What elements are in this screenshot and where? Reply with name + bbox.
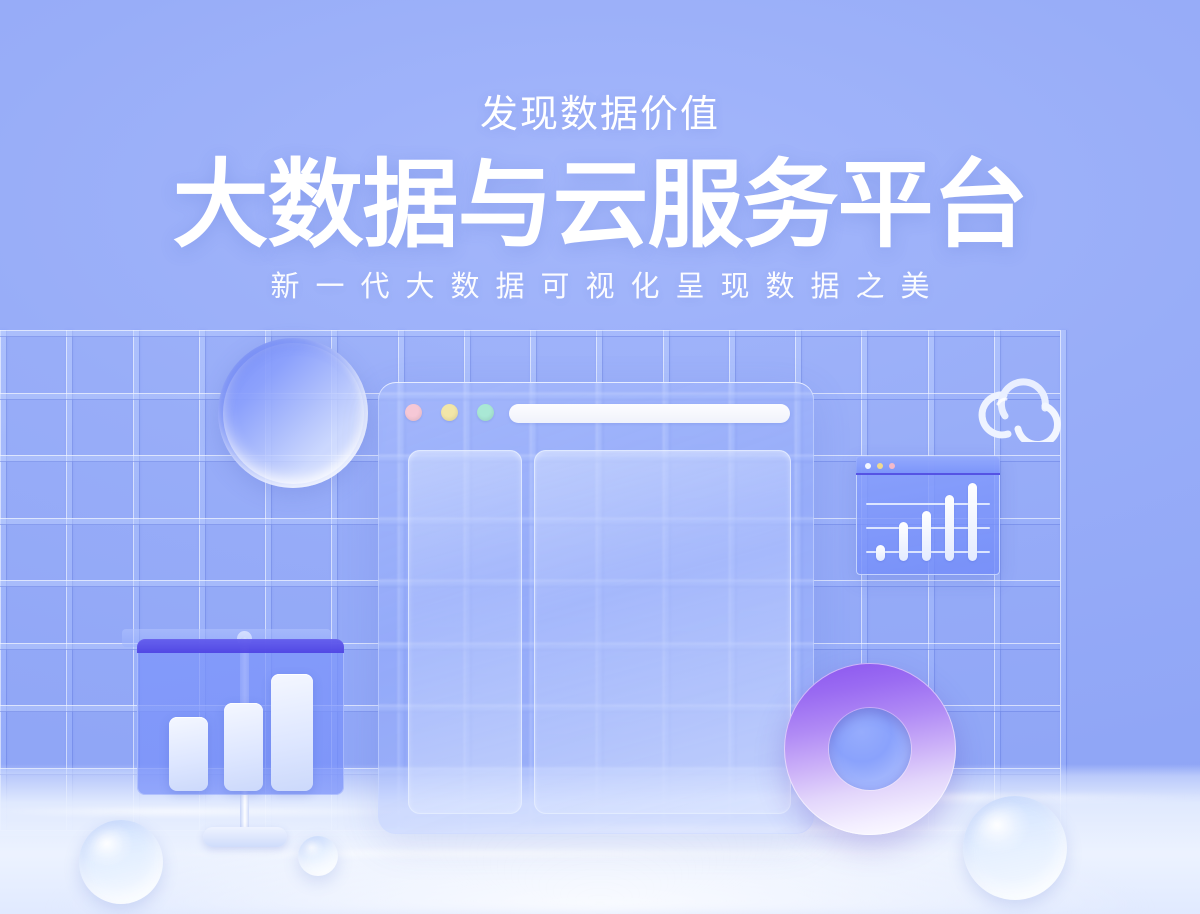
bar-b <box>224 703 263 791</box>
chart-bar-5 <box>968 483 977 561</box>
chart-bar-2 <box>899 522 908 561</box>
chart-bar-1 <box>876 545 885 561</box>
floor-streak <box>120 850 1020 857</box>
bar-a <box>169 717 208 791</box>
page-title: 大数据与云服务平台 <box>0 156 1200 257</box>
maximize-dot[interactable] <box>477 404 494 421</box>
bar-c <box>271 674 313 791</box>
subtitle-text: 新一代大数据可视化呈现数据之美 <box>0 273 1200 302</box>
gradient-torus <box>784 663 956 835</box>
glass-browser-mockup[interactable] <box>378 382 814 834</box>
content-panel[interactable] <box>534 450 791 814</box>
window-dot-yellow[interactable] <box>877 463 883 469</box>
glass-disc <box>218 338 368 488</box>
glass-sphere-mid <box>298 836 338 876</box>
torus-hole <box>829 708 911 790</box>
close-dot[interactable] <box>405 404 422 421</box>
chart-plot-area <box>856 475 1000 575</box>
lattice-horizontal-bar <box>0 330 1060 337</box>
glass-sphere-left <box>79 820 163 904</box>
hero-copy: 发现数据价值 大数据与云服务平台 新一代大数据可视化呈现数据之美 <box>0 0 1200 302</box>
window-dot-white[interactable] <box>865 463 871 469</box>
cloud-icon <box>975 360 1067 442</box>
hero-banner-stage: 发现数据价值 大数据与云服务平台 新一代大数据可视化呈现数据之美 <box>0 0 1200 914</box>
glass-sphere-right <box>963 796 1067 900</box>
chart-bar-4 <box>945 495 954 561</box>
address-bar[interactable] <box>509 404 790 423</box>
stand-base <box>203 827 287 847</box>
minimize-dot[interactable] <box>441 404 458 421</box>
eyebrow-text: 发现数据价值 <box>0 96 1200 134</box>
panel-header-bar <box>137 639 344 653</box>
chart-window-titlebar <box>856 456 1000 475</box>
sidebar-panel[interactable] <box>408 450 522 814</box>
chart-bar-3 <box>922 511 931 561</box>
window-dot-pink[interactable] <box>889 463 895 469</box>
browser-titlebar <box>378 382 814 438</box>
analytics-chart-window[interactable] <box>856 456 1000 575</box>
